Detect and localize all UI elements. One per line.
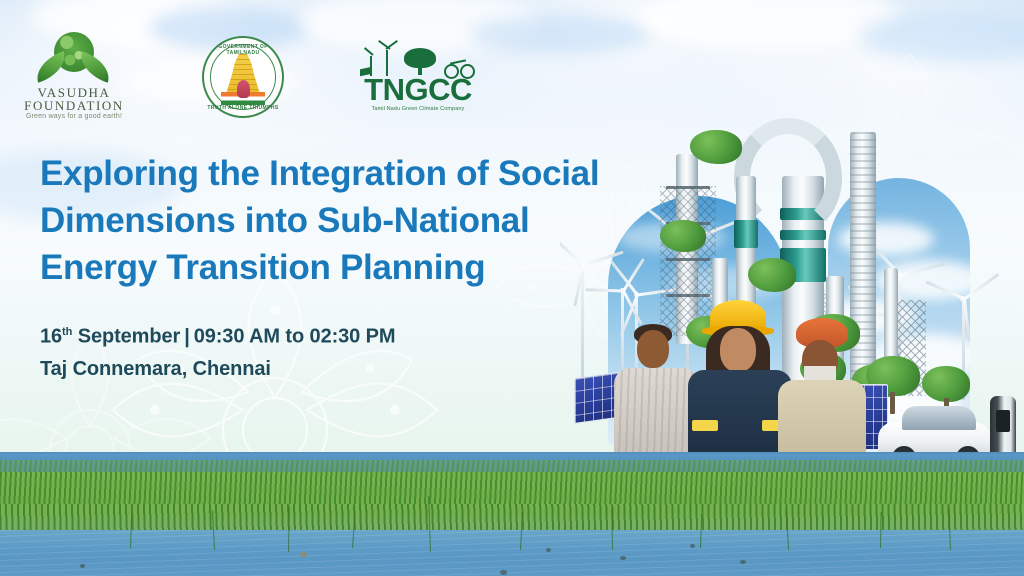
- event-venue: Taj Connemara, Chennai: [40, 353, 395, 385]
- event-details: 16th September|09:30 AM to 02:30 PM Taj …: [40, 316, 395, 385]
- tngcc-tagline: Tamil Nadu Green Climate Company: [356, 106, 480, 112]
- teal-pipe-band: [734, 220, 758, 248]
- person-elderly-turban: [778, 318, 866, 454]
- date-day-suffix: th: [62, 326, 72, 338]
- vasudha-tagline: Green ways for a good earth!: [10, 113, 138, 120]
- date-month: September: [78, 326, 180, 348]
- event-time-range: 09:30 AM to 02:30 PM: [194, 326, 396, 348]
- tngcc-wordmark: TNGCC: [356, 74, 480, 105]
- wetland-photo-band: [0, 452, 1024, 576]
- tree-foliage: [922, 366, 970, 402]
- vasudha-globe-leaf-icon: [34, 32, 112, 88]
- lion-capital-icon: [237, 80, 250, 98]
- logo-row: VASUDHA FOUNDATION Green ways for a good…: [0, 0, 520, 140]
- person-woman-engineer: [688, 300, 792, 454]
- event-banner: VASUDHA FOUNDATION Green ways for a good…: [0, 0, 1024, 576]
- date-day: 16: [40, 326, 62, 348]
- tree-foliage: [748, 258, 796, 292]
- event-title: Exploring the Integration of Social Dime…: [40, 150, 720, 291]
- logo-tngcc: TNGCC Tamil Nadu Green Climate Company: [356, 44, 480, 114]
- water-near: [0, 530, 1024, 576]
- title-line-2: Dimensions into Sub-National: [40, 197, 720, 244]
- emblem-text-bottom: TRUTH ALONE TRIUMPHS: [204, 105, 282, 111]
- person-farmer: [614, 324, 698, 454]
- charger-screen: [996, 410, 1010, 432]
- logo-government-of-tamilnadu: GOVERNMENT OF TAMILNADU TRUTH ALONE TRIU…: [202, 36, 284, 118]
- vasudha-name: VASUDHA FOUNDATION: [10, 86, 138, 112]
- event-date-time: 16th September|09:30 AM to 02:30 PM: [40, 316, 395, 353]
- title-line-3: Energy Transition Planning: [40, 244, 720, 291]
- title-line-1: Exploring the Integration of Social: [40, 150, 720, 197]
- date-time-separator: |: [180, 326, 194, 348]
